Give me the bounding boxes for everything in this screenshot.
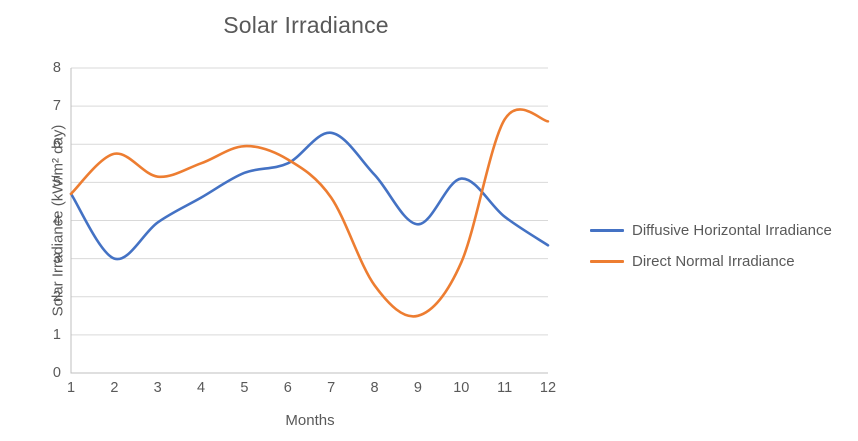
legend-swatch-icon xyxy=(590,260,624,263)
legend-item-2[interactable]: Direct Normal Irradiance xyxy=(590,253,832,270)
legend-item-1[interactable]: Diffusive Horizontal Irradiance xyxy=(590,222,832,239)
solar-irradiance-chart: Solar Irradiance Solar Irradiance (kW/m²… xyxy=(0,0,858,441)
data-series xyxy=(71,109,548,316)
gridlines xyxy=(71,68,548,335)
legend-swatch-icon xyxy=(590,229,624,232)
series-line-1 xyxy=(71,133,548,259)
plot-area xyxy=(0,0,858,441)
legend-label: Diffusive Horizontal Irradiance xyxy=(632,222,832,239)
legend-label: Direct Normal Irradiance xyxy=(632,253,795,270)
series-line-2 xyxy=(71,109,548,316)
chart-legend: Diffusive Horizontal IrradianceDirect No… xyxy=(590,222,832,270)
